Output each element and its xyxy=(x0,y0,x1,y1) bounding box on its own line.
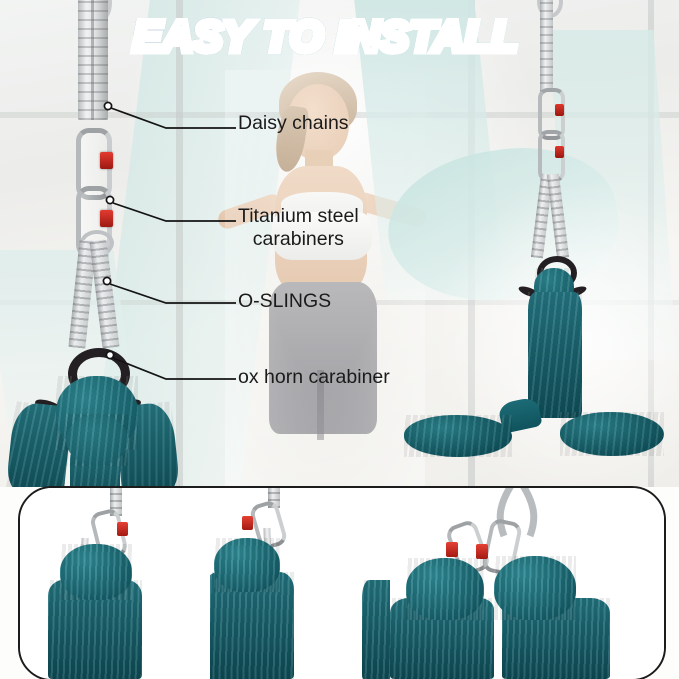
bottom-detail-panel xyxy=(18,486,666,679)
silk-knot xyxy=(214,538,280,592)
product-scene-photo: Daisy chains Titanium steelcarabiners O-… xyxy=(0,0,679,487)
carabiner-red-lock-icon xyxy=(117,522,128,536)
silk-folds xyxy=(404,415,512,457)
silk-knot xyxy=(406,558,484,620)
silk-knot xyxy=(60,544,132,600)
silk-folds xyxy=(560,412,664,456)
o-sling-stitching xyxy=(547,174,569,259)
detail-shot-single-hammock xyxy=(20,488,210,679)
callout-label-carabiners-line1: Titanium steel xyxy=(238,205,359,227)
silk-folds xyxy=(406,558,484,620)
carabiner-red-lock-icon xyxy=(476,544,488,559)
silk-floor-pile xyxy=(560,412,664,456)
o-sling-webbing-icon xyxy=(530,174,570,260)
aerial-yoga-silk-icon xyxy=(14,360,174,487)
silk-knot xyxy=(66,414,128,466)
callout-label-carabiners-line2: carabiners xyxy=(238,228,359,251)
page-title: EASY TO INSTALL xyxy=(133,13,543,65)
infographic-root: Daisy chains Titanium steelcarabiners O-… xyxy=(0,0,679,679)
silk-folds xyxy=(528,292,582,418)
carabiner-red-lock-icon xyxy=(446,542,458,557)
carabiner-red-lock-icon xyxy=(100,152,113,169)
carabiner-red-lock-icon xyxy=(242,516,253,530)
silk-folds xyxy=(66,414,128,466)
detail-shot-double-carabiner xyxy=(390,488,664,679)
o-sling-leg xyxy=(89,239,119,348)
daisy-chain-strap-icon xyxy=(78,0,108,120)
o-sling-webbing-icon xyxy=(62,240,124,352)
silk-folds xyxy=(362,580,390,679)
callout-label-ox-horn-carabiner: ox horn carabiner xyxy=(238,366,390,389)
aerial-yoga-silk-icon xyxy=(362,580,390,679)
carabiner-red-lock-icon xyxy=(555,146,564,158)
aerial-yoga-silk-icon xyxy=(528,292,582,418)
silk-knot xyxy=(494,556,576,620)
callout-label-o-slings: O-SLINGS xyxy=(238,290,331,313)
detail-shot-hammock-side xyxy=(210,488,390,679)
o-sling-stitching xyxy=(89,239,119,348)
silk-folds xyxy=(214,538,280,592)
silk-floor-pile xyxy=(404,415,512,457)
silk-folds xyxy=(494,556,576,620)
silk-folds xyxy=(60,544,132,600)
callout-label-carabiners: Titanium steelcarabiners xyxy=(238,205,359,251)
carabiner-red-lock-icon xyxy=(100,210,113,227)
o-sling-leg xyxy=(547,174,569,259)
daisy-chain-stitching xyxy=(78,0,108,120)
carabiner-red-lock-icon xyxy=(555,104,564,116)
callout-label-daisy-chains: Daisy chains xyxy=(238,112,349,135)
window-mullion xyxy=(176,0,183,487)
